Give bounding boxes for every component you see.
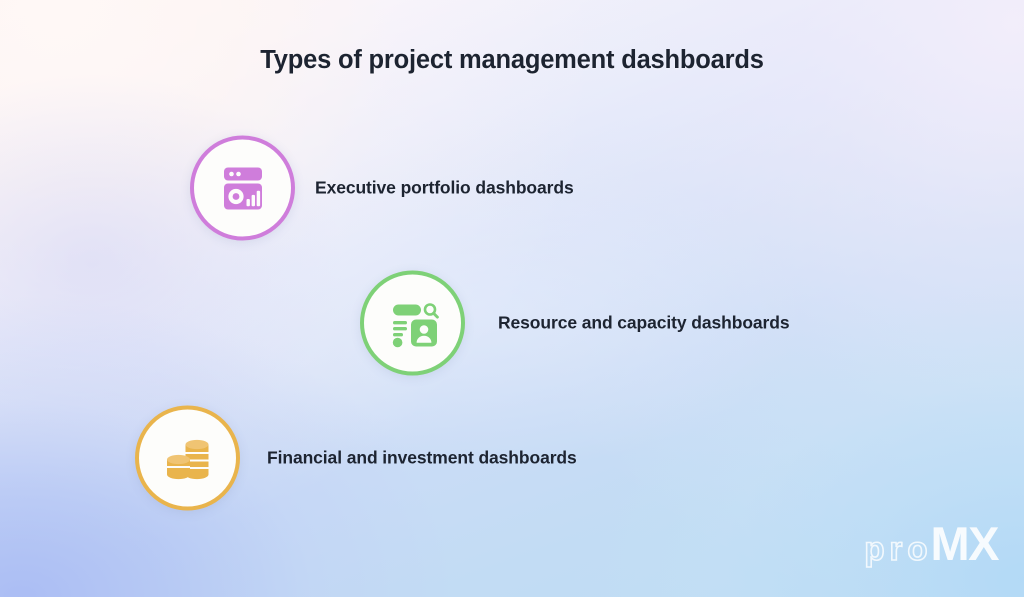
stacked-coins-icon [160, 430, 216, 486]
page-title: Types of project management dashboards [0, 46, 1024, 75]
icon-badge-financial-investment [135, 406, 240, 511]
dashboard-window-icon [215, 160, 271, 216]
list-item-label: Financial and investment dashboards [267, 448, 577, 469]
list-item-label: Resource and capacity dashboards [498, 313, 790, 334]
promx-logo: pro MX [864, 520, 998, 567]
resource-search-profile-icon [385, 295, 441, 351]
list-item-resource-capacity[interactable]: Resource and capacity dashboards [408, 273, 877, 373]
infographic-canvas: Types of project management dashboards E… [0, 0, 1024, 597]
icon-badge-resource-capacity [360, 271, 465, 376]
logo-text-mx: MX [931, 520, 999, 567]
list-item-financial-investment[interactable]: Financial and investment dashboards [182, 408, 725, 508]
list-item-label: Executive portfolio dashboards [315, 178, 574, 199]
logo-text-pro: pro [864, 532, 933, 565]
icon-badge-executive-portfolio [190, 136, 295, 241]
list-item-executive-portfolio[interactable]: Executive portfolio dashboards [235, 138, 678, 238]
